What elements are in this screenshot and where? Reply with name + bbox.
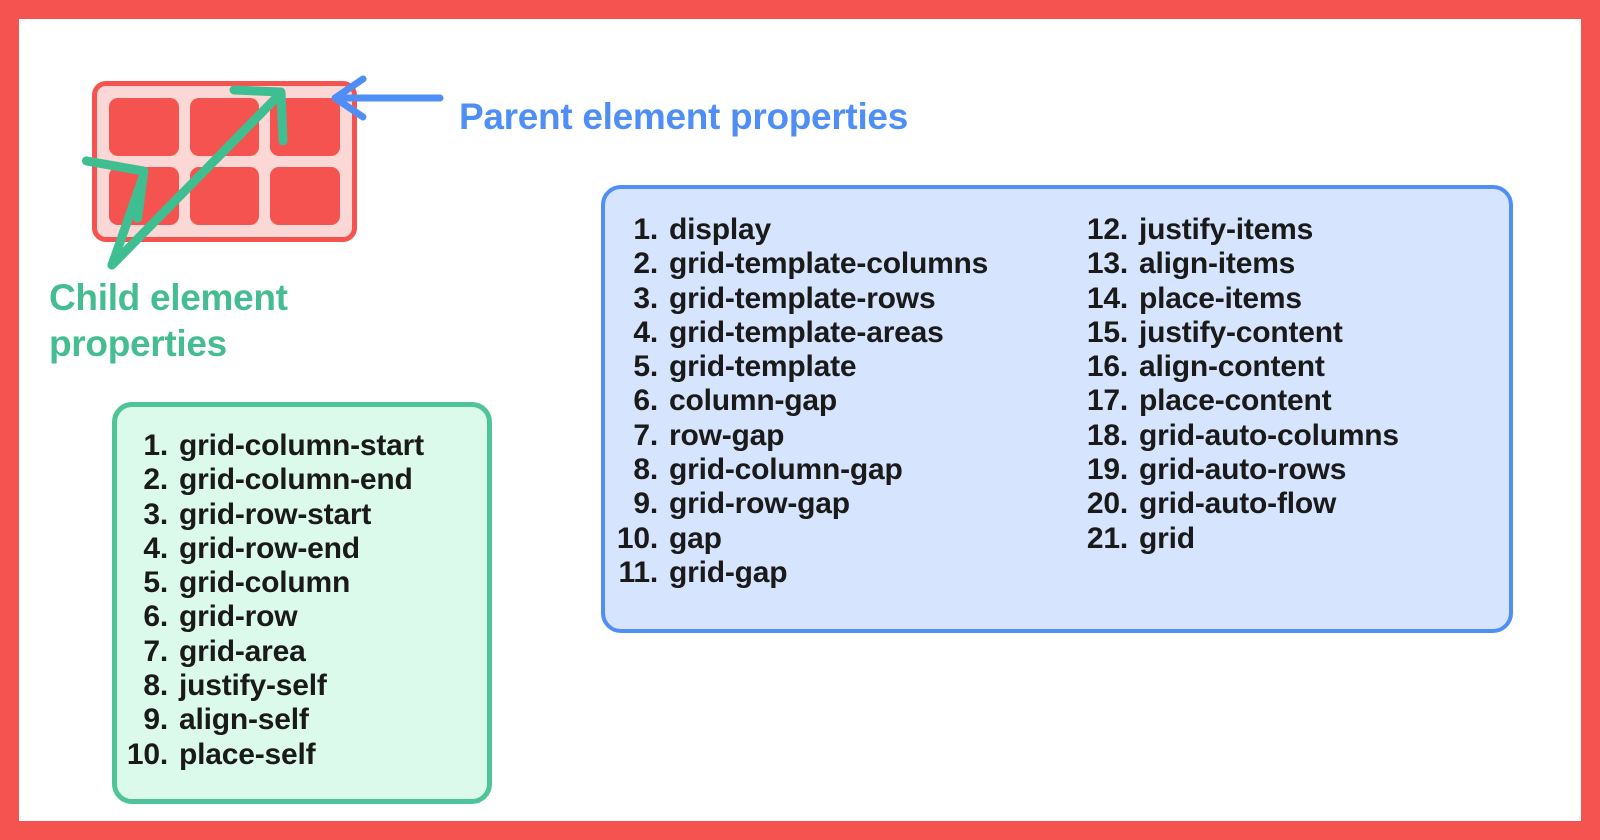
list-item: 3.grid-template-rows bbox=[615, 282, 1085, 316]
parent-property-number: 8. bbox=[615, 453, 669, 487]
parent-property-number: 9. bbox=[615, 487, 669, 521]
parent-property-number: 16. bbox=[1085, 350, 1139, 384]
parent-property-number: 12. bbox=[1085, 213, 1139, 247]
child-property-number: 10. bbox=[125, 738, 179, 772]
child-properties-column: 1.grid-column-start2.grid-column-end3.gr… bbox=[117, 429, 487, 799]
child-property-name: grid-row-end bbox=[179, 532, 487, 566]
list-item: 3.grid-row-start bbox=[125, 498, 487, 532]
list-item: 9.grid-row-gap bbox=[615, 487, 1085, 521]
parent-property-name: display bbox=[669, 213, 1085, 247]
list-item: 7.row-gap bbox=[615, 419, 1085, 453]
parent-property-name: row-gap bbox=[669, 419, 1085, 453]
parent-property-name: place-content bbox=[1139, 384, 1505, 418]
diagram-canvas: Parent element properties Child element … bbox=[0, 0, 1600, 840]
parent-property-name: grid-gap bbox=[669, 556, 1085, 590]
parent-property-number: 20. bbox=[1085, 487, 1139, 521]
list-item: 10.place-self bbox=[125, 738, 487, 772]
list-item: 5.grid-template bbox=[615, 350, 1085, 384]
child-property-name: justify-self bbox=[179, 669, 487, 703]
list-item: 21.grid bbox=[1085, 522, 1505, 556]
child-property-number: 3. bbox=[125, 498, 179, 532]
parent-property-name: place-items bbox=[1139, 282, 1505, 316]
parent-property-name: grid-template bbox=[669, 350, 1085, 384]
child-properties-box: 1.grid-column-start2.grid-column-end3.gr… bbox=[112, 402, 492, 804]
parent-property-name: grid bbox=[1139, 522, 1505, 556]
list-item: 19.grid-auto-rows bbox=[1085, 453, 1505, 487]
list-item: 7.grid-area bbox=[125, 635, 487, 669]
parent-property-name: grid-row-gap bbox=[669, 487, 1085, 521]
grid-cell-4 bbox=[109, 167, 179, 225]
grid-illustration-parent bbox=[92, 81, 357, 242]
child-property-name: grid-column bbox=[179, 566, 487, 600]
parent-property-name: grid-auto-rows bbox=[1139, 453, 1505, 487]
parent-element-properties-label: Parent element properties bbox=[459, 94, 908, 140]
parent-property-name: justify-items bbox=[1139, 213, 1505, 247]
list-item: 1.grid-column-start bbox=[125, 429, 487, 463]
list-item: 4.grid-row-end bbox=[125, 532, 487, 566]
list-item: 1.display bbox=[615, 213, 1085, 247]
grid-cell-1 bbox=[109, 98, 179, 156]
parent-property-name: align-items bbox=[1139, 247, 1505, 281]
list-item: 9.align-self bbox=[125, 703, 487, 737]
list-item: 10.gap bbox=[615, 522, 1085, 556]
grid-cell-3 bbox=[270, 98, 340, 156]
child-property-number: 9. bbox=[125, 703, 179, 737]
parent-property-name: gap bbox=[669, 522, 1085, 556]
child-property-name: grid-row bbox=[179, 600, 487, 634]
parent-properties-column-right: 12.justify-items13.align-items14.place-i… bbox=[1085, 213, 1505, 629]
child-property-name: place-self bbox=[179, 738, 487, 772]
parent-property-name: column-gap bbox=[669, 384, 1085, 418]
list-item: 8.justify-self bbox=[125, 669, 487, 703]
parent-property-number: 7. bbox=[615, 419, 669, 453]
parent-property-number: 10. bbox=[615, 522, 669, 556]
child-property-name: grid-column-end bbox=[179, 463, 487, 497]
list-item: 17.place-content bbox=[1085, 384, 1505, 418]
list-item: 6.grid-row bbox=[125, 600, 487, 634]
child-property-number: 7. bbox=[125, 635, 179, 669]
parent-property-name: grid-auto-flow bbox=[1139, 487, 1505, 521]
child-property-number: 1. bbox=[125, 429, 179, 463]
parent-properties-list-right: 12.justify-items13.align-items14.place-i… bbox=[1085, 213, 1505, 556]
parent-property-number: 4. bbox=[615, 316, 669, 350]
parent-property-number: 21. bbox=[1085, 522, 1139, 556]
parent-property-number: 3. bbox=[615, 282, 669, 316]
child-property-name: grid-area bbox=[179, 635, 487, 669]
grid-cell-6 bbox=[270, 167, 340, 225]
list-item: 15.justify-content bbox=[1085, 316, 1505, 350]
parent-property-number: 17. bbox=[1085, 384, 1139, 418]
list-item: 8.grid-column-gap bbox=[615, 453, 1085, 487]
list-item: 12.justify-items bbox=[1085, 213, 1505, 247]
grid-cell-5 bbox=[190, 167, 260, 225]
parent-property-name: grid-template-columns bbox=[669, 247, 1085, 281]
child-element-properties-label: Child element properties bbox=[49, 275, 288, 367]
parent-property-number: 15. bbox=[1085, 316, 1139, 350]
parent-property-name: grid-column-gap bbox=[669, 453, 1085, 487]
parent-property-name: grid-template-areas bbox=[669, 316, 1085, 350]
parent-property-name: align-content bbox=[1139, 350, 1505, 384]
child-property-number: 4. bbox=[125, 532, 179, 566]
child-property-name: grid-row-start bbox=[179, 498, 487, 532]
parent-property-name: grid-auto-columns bbox=[1139, 419, 1505, 453]
list-item: 16.align-content bbox=[1085, 350, 1505, 384]
parent-properties-column-left: 1.display2.grid-template-columns3.grid-t… bbox=[605, 213, 1085, 629]
parent-property-number: 19. bbox=[1085, 453, 1139, 487]
parent-property-number: 11. bbox=[615, 556, 669, 590]
parent-property-number: 18. bbox=[1085, 419, 1139, 453]
child-property-name: align-self bbox=[179, 703, 487, 737]
list-item: 20.grid-auto-flow bbox=[1085, 487, 1505, 521]
child-property-number: 6. bbox=[125, 600, 179, 634]
list-item: 2.grid-column-end bbox=[125, 463, 487, 497]
list-item: 14.place-items bbox=[1085, 282, 1505, 316]
parent-property-number: 14. bbox=[1085, 282, 1139, 316]
child-property-name: grid-column-start bbox=[179, 429, 487, 463]
parent-properties-box: 1.display2.grid-template-columns3.grid-t… bbox=[601, 185, 1513, 633]
parent-property-name: justify-content bbox=[1139, 316, 1505, 350]
list-item: 13.align-items bbox=[1085, 247, 1505, 281]
list-item: 18.grid-auto-columns bbox=[1085, 419, 1505, 453]
list-item: 11.grid-gap bbox=[615, 556, 1085, 590]
list-item: 6.column-gap bbox=[615, 384, 1085, 418]
list-item: 4.grid-template-areas bbox=[615, 316, 1085, 350]
parent-property-number: 1. bbox=[615, 213, 669, 247]
diagram-page: Parent element properties Child element … bbox=[19, 19, 1581, 821]
parent-property-number: 2. bbox=[615, 247, 669, 281]
parent-property-number: 5. bbox=[615, 350, 669, 384]
child-property-number: 5. bbox=[125, 566, 179, 600]
parent-properties-list-left: 1.display2.grid-template-columns3.grid-t… bbox=[615, 213, 1085, 590]
parent-property-number: 13. bbox=[1085, 247, 1139, 281]
list-item: 5.grid-column bbox=[125, 566, 487, 600]
parent-property-name: grid-template-rows bbox=[669, 282, 1085, 316]
child-properties-list: 1.grid-column-start2.grid-column-end3.gr… bbox=[125, 429, 487, 772]
parent-property-number: 6. bbox=[615, 384, 669, 418]
child-property-number: 2. bbox=[125, 463, 179, 497]
list-item: 2.grid-template-columns bbox=[615, 247, 1085, 281]
grid-cell-2 bbox=[190, 98, 260, 156]
child-property-number: 8. bbox=[125, 669, 179, 703]
